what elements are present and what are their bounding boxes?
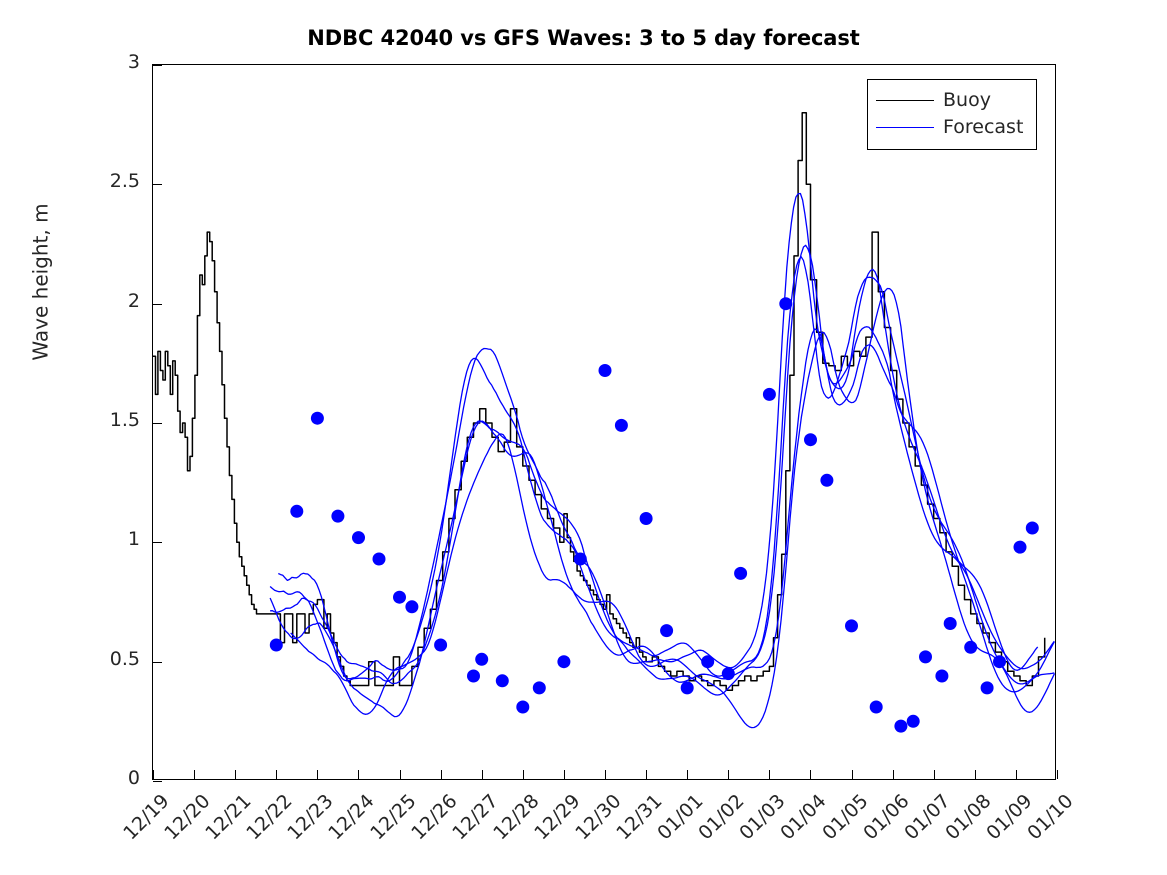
forecast-marker-point <box>981 681 994 694</box>
forecast-marker-point <box>640 512 653 525</box>
x-tick-mark <box>564 770 565 779</box>
forecast-marker-point <box>599 364 612 377</box>
forecast-marker-point <box>496 674 509 687</box>
forecast-marker-point <box>475 653 488 666</box>
forecast-marker-point <box>533 681 546 694</box>
forecast-marker-point <box>467 670 480 683</box>
x-tick-mark <box>1057 770 1058 779</box>
chart-canvas <box>153 65 1057 781</box>
y-tick-mark <box>153 542 162 543</box>
x-tick-mark <box>523 770 524 779</box>
legend-label-forecast: Forecast <box>943 118 1023 137</box>
forecast-marker-point <box>290 505 303 518</box>
forecast-marker-point <box>779 297 792 310</box>
forecast-marker-point <box>993 655 1006 668</box>
x-tick-mark <box>975 770 976 779</box>
y-tick-label: 2 <box>128 290 140 312</box>
forecast-marker-point <box>734 567 747 580</box>
y-tick-label: 0.5 <box>110 648 140 670</box>
forecast-marker-point <box>907 715 920 728</box>
forecast-marker-point <box>574 553 587 566</box>
forecast-marker-point <box>557 655 570 668</box>
forecast-marker-point <box>1026 522 1039 535</box>
y-axis-label: Wave height, m <box>29 203 53 360</box>
x-tick-mark <box>687 770 688 779</box>
forecast-marker-point <box>870 701 883 714</box>
x-tick-mark <box>317 770 318 779</box>
forecast-marker-point <box>352 531 365 544</box>
forecast-marker-point <box>660 624 673 637</box>
x-tick-mark <box>400 770 401 779</box>
y-tick-label: 2.5 <box>110 170 140 192</box>
x-tick-mark <box>605 770 606 779</box>
forecast-series <box>270 194 1054 728</box>
y-tick-mark <box>153 423 162 424</box>
forecast-marker-point <box>845 619 858 632</box>
x-tick-mark <box>810 770 811 779</box>
x-tick-mark <box>276 770 277 779</box>
legend-label-buoy: Buoy <box>943 91 991 110</box>
y-tick-mark <box>153 662 162 663</box>
x-tick-mark <box>194 770 195 779</box>
chart-title: NDBC 42040 vs GFS Waves: 3 to 5 day fore… <box>0 26 1167 50</box>
forecast-marker-point <box>701 655 714 668</box>
forecast-marker-point <box>722 667 735 680</box>
y-tick-label: 1 <box>128 528 140 550</box>
buoy-line-swatch-icon <box>876 100 934 101</box>
forecast-marker-point <box>820 474 833 487</box>
forecast-marker-point <box>393 591 406 604</box>
forecast-marker-point <box>1014 541 1027 554</box>
chart-legend: Buoy Forecast <box>867 79 1037 150</box>
x-tick-mark <box>769 770 770 779</box>
forecast-marker-point <box>615 419 628 432</box>
forecast-marker-point <box>516 701 529 714</box>
y-tick-label: 1.5 <box>110 409 140 431</box>
y-tick-mark <box>153 65 162 66</box>
forecast-marker-point <box>935 670 948 683</box>
y-tick-mark <box>153 781 162 782</box>
forecast-line-swatch-icon <box>876 127 934 128</box>
x-tick-mark <box>852 770 853 779</box>
forecast-marker-point <box>681 681 694 694</box>
chart-page: NDBC 42040 vs GFS Waves: 3 to 5 day fore… <box>0 0 1167 875</box>
y-tick-label: 3 <box>128 51 140 73</box>
x-tick-mark <box>441 770 442 779</box>
forecast-marker-point <box>944 617 957 630</box>
forecast-marker-point <box>405 600 418 613</box>
y-tick-label: 0 <box>128 767 140 789</box>
x-tick-mark <box>893 770 894 779</box>
forecast-marker-point <box>373 553 386 566</box>
legend-item-forecast: Forecast <box>876 114 1028 141</box>
forecast-marker-point <box>894 720 907 733</box>
x-tick-mark <box>235 770 236 779</box>
legend-item-buoy: Buoy <box>876 87 1028 114</box>
forecast-trace-2 <box>270 329 1054 717</box>
forecast-trace-5 <box>278 194 1037 679</box>
x-tick-mark <box>934 770 935 779</box>
forecast-marker-point <box>919 650 932 663</box>
x-tick-mark <box>482 770 483 779</box>
x-tick-mark <box>358 770 359 779</box>
x-tick-mark <box>646 770 647 779</box>
y-tick-mark <box>153 304 162 305</box>
forecast-marker-point <box>311 412 324 425</box>
y-tick-mark <box>153 184 162 185</box>
x-tick-mark <box>1016 770 1017 779</box>
forecast-marker-point <box>331 510 344 523</box>
forecast-marker-point <box>270 639 283 652</box>
plot-area: Buoy Forecast <box>152 64 1056 780</box>
forecast-marker-point <box>763 388 776 401</box>
x-tick-mark <box>153 770 154 779</box>
forecast-marker-point <box>804 433 817 446</box>
forecast-trace-3 <box>270 257 1054 684</box>
forecast-marker-point <box>964 641 977 654</box>
forecast-marker-point <box>434 639 447 652</box>
x-tick-mark <box>728 770 729 779</box>
